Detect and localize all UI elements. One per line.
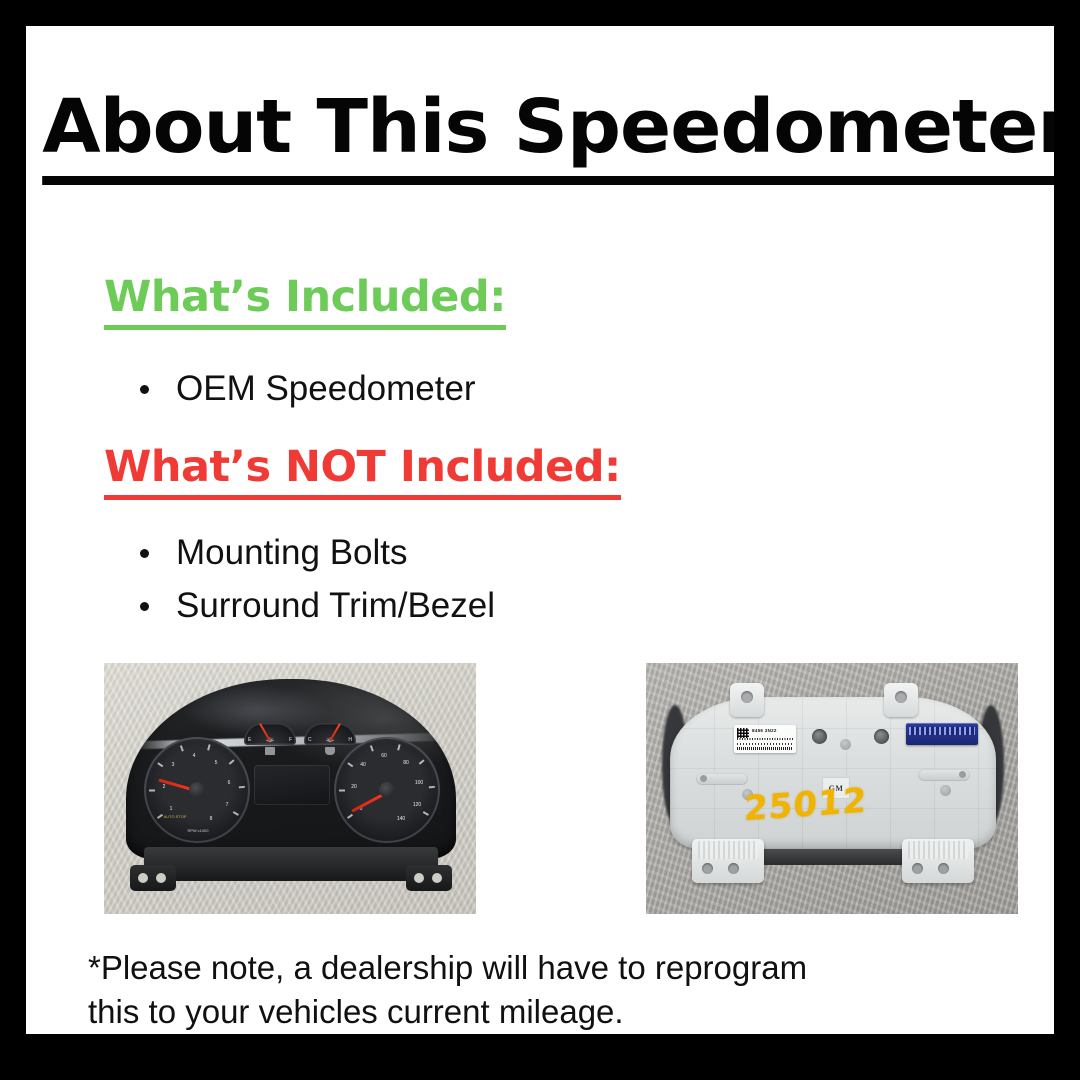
list-whats-included: OEM Speedometer [136,362,476,415]
fuel-gauge: E F [244,723,296,745]
speedo-tick-label: 60 [377,753,391,759]
content-card: About This Speedometer What’s Included: … [26,26,1054,1034]
heading-whats-not-included-text: What’s NOT Included: [104,442,621,500]
barcode-icon [737,738,793,740]
tach-tick-label: 2 [157,784,171,790]
tach-tick-label: 3 [166,762,180,768]
label-line [737,743,793,745]
foot-ribs [698,841,758,859]
heading-whats-included: What’s Included: [104,272,506,330]
list-whats-not-included: Mounting Bolts Surround Trim/Bezel [136,526,495,632]
bullet-dot-icon [140,385,149,394]
part-label: 8456 3N22 [734,725,796,753]
temp-min-label: C [308,737,312,743]
list-item-label: Surround Trim/Bezel [176,586,495,625]
cluster-base-bracket [144,847,438,881]
footnote-line-2: this to your vehicles current mileage. [88,990,1018,1034]
tach-tick-label: 5 [209,760,223,766]
connector-pins [909,727,975,735]
fuel-min-label: E [248,737,251,743]
mounting-foot-right [902,839,974,883]
gauge-hub [379,782,396,799]
footnote: *Please note, a dealership will have to … [88,946,1018,1034]
fuel-max-label: F [289,737,292,743]
mounting-foot-left [692,839,764,883]
screw-boss [840,739,851,750]
bullet-dot-icon [140,549,149,558]
part-label-text: 8456 3N22 [752,728,777,733]
tachometer-gauge: 1 2 3 4 5 6 7 8 AUTO STOP RPM x1000 [144,737,250,843]
gauge-hub [189,782,206,799]
metal-bracket-left [696,773,748,785]
speedometer-gauge: 0 20 40 60 80 100 120 140 [334,737,440,843]
lower-bracket-bar [750,849,916,865]
speedo-tick-label: 120 [410,802,424,808]
speedo-tick-label: 80 [399,760,413,766]
tach-tick-label: 8 [204,816,218,822]
speedo-tick-label: 20 [347,784,361,790]
speedo-tick-label: 100 [412,780,426,786]
instrument-cluster-back: 8456 3N22 GM 25012 [662,681,1004,893]
mounting-ear-right [884,683,918,717]
mounting-ear-left [730,683,764,717]
temperature-gauge: C H [304,723,356,745]
list-item: OEM Speedometer [136,362,476,415]
screw-boss [940,785,951,796]
instrument-cluster-front: 1 2 3 4 5 6 7 8 AUTO STOP RPM x1000 [126,679,456,894]
foot-ribs [908,841,968,859]
coolant-temp-icon [325,747,335,755]
list-item: Mounting Bolts [136,526,495,579]
screw-boss [874,729,889,744]
heading-whats-not-included: What’s NOT Included: [104,442,621,500]
list-item-label: Mounting Bolts [176,533,408,572]
tach-tick-label: 4 [187,753,201,759]
fuel-pump-icon [265,747,275,755]
auto-stop-label: AUTO STOP [152,814,198,819]
wiring-connector [906,723,978,745]
product-photo-back: 8456 3N22 GM 25012 [646,663,1018,914]
page-title-text: About This Speedometer [42,84,1054,185]
list-item-label: OEM Speedometer [176,369,476,408]
heading-whats-included-text: What’s Included: [104,272,506,330]
driver-information-display [254,765,330,805]
footnote-line-1: *Please note, a dealership will have to … [88,946,1018,990]
product-photo-front: 1 2 3 4 5 6 7 8 AUTO STOP RPM x1000 [104,663,476,914]
temperature-needle [329,723,341,741]
mounting-tab-right [406,865,452,891]
tach-tick-label: 6 [222,780,236,786]
tach-tick-label: 7 [220,802,234,808]
speedo-tick-label: 40 [356,762,370,768]
infographic-root: About This Speedometer What’s Included: … [0,0,1080,1080]
speedo-tick-label: 140 [394,816,408,822]
bullet-dot-icon [140,602,149,611]
screw-boss [812,729,827,744]
metal-bracket-right [918,769,970,781]
mounting-tab-left [130,865,176,891]
temp-max-label: H [348,737,352,743]
page-title: About This Speedometer [42,84,1042,185]
fuel-needle [259,723,271,741]
barcode-icon [737,747,793,750]
tach-tick-label: 1 [164,806,178,812]
rpm-unit-label: RPM x1000 [170,828,226,833]
list-item: Surround Trim/Bezel [136,579,495,632]
